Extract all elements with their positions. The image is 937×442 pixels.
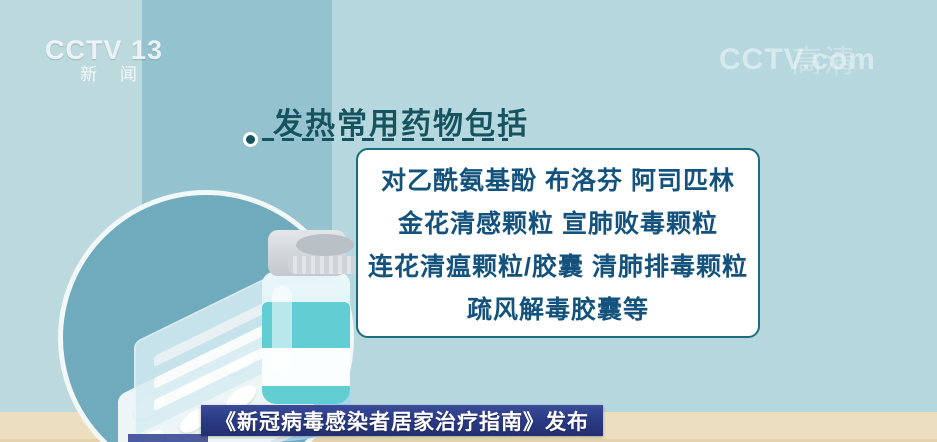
medication-line: 疏风解毒胶囊等 [467, 290, 649, 326]
vial-cap [268, 230, 346, 276]
lower-third-tab [128, 434, 208, 442]
medication-line: 连花清瘟颗粒/胶囊 清肺排毒颗粒 [368, 247, 748, 283]
broadcast-screen: CCTV 13 新 闻 高清 CCTV.com 发热常用药物包括 对乙酰氨基酚 … [0, 0, 937, 442]
lower-third-headline: 《新冠病毒感染者居家治疗指南》发布 [215, 406, 589, 436]
vial-cap-top [296, 234, 354, 256]
vial-gloss [272, 286, 292, 372]
lower-third-banner: 《新冠病毒感染者居家治疗指南》发布 [201, 405, 603, 436]
medication-line: 金花清感颗粒 宣肺败毒颗粒 [398, 204, 718, 240]
page-title: 发热常用药物包括 [273, 99, 529, 143]
vial-cap-ridges [288, 256, 362, 274]
medication-line: 对乙酰氨基酚 布洛芬 阿司匹林 [381, 161, 735, 197]
bullet-dot-icon [243, 132, 258, 147]
dashed-line-icon [262, 138, 508, 141]
medication-list-card: 对乙酰氨基酚 布洛芬 阿司匹林 金花清感颗粒 宣肺败毒颗粒 连花清瘟颗粒/胶囊 … [356, 148, 760, 338]
medicine-vial-icon [250, 230, 362, 410]
